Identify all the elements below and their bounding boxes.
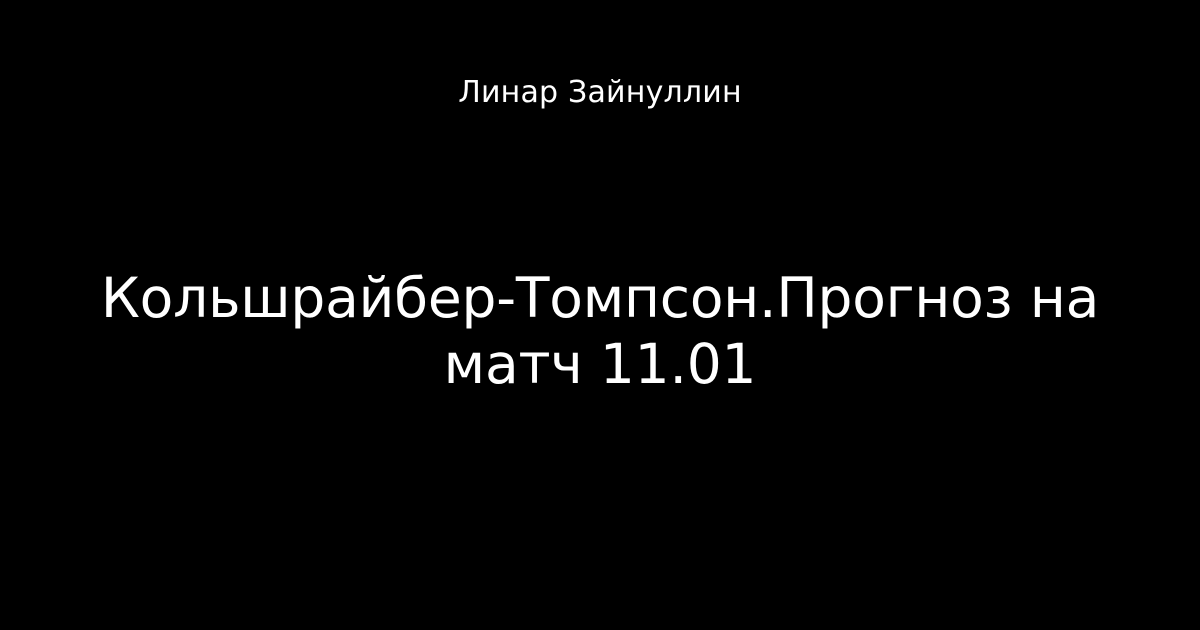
article-preview-card: Линар Зайнуллин Кольшрайбер-Томпсон.Прог… [0, 0, 1200, 630]
page-title: Кольшрайбер-Томпсон.Прогноз на матч 11.0… [100, 265, 1100, 397]
author-name: Линар Зайнуллин [0, 74, 1200, 112]
